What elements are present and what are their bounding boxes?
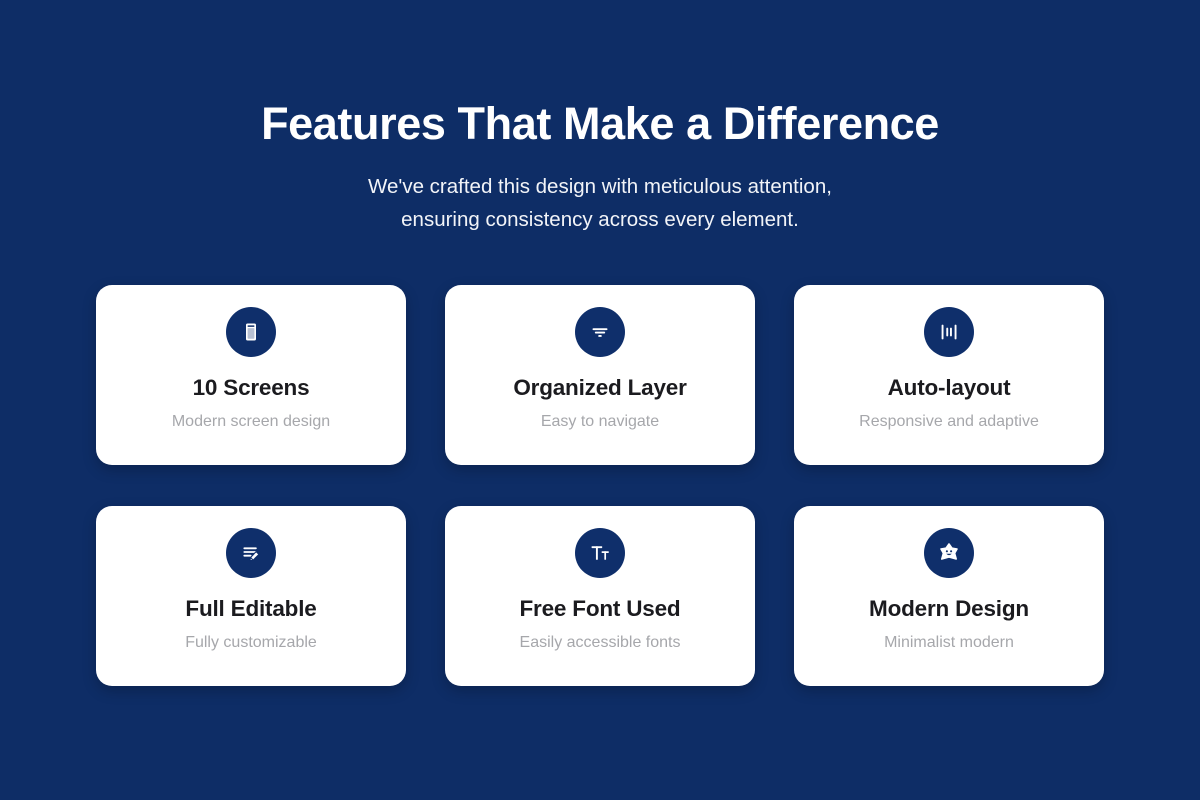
smiley-star-icon bbox=[924, 528, 974, 578]
card-description: Easy to navigate bbox=[541, 412, 659, 431]
feature-card-free-font-used[interactable]: Free Font Used Easily accessible fonts bbox=[445, 506, 755, 686]
feature-card-organized-layer[interactable]: Organized Layer Easy to navigate bbox=[445, 285, 755, 465]
features-section: Features That Make a Difference We've cr… bbox=[0, 0, 1200, 800]
page-title: Features That Make a Difference bbox=[0, 100, 1200, 147]
card-description: Minimalist modern bbox=[884, 633, 1014, 652]
edit-pencil-icon bbox=[226, 528, 276, 578]
page-subtitle: We've crafted this design with meticulou… bbox=[0, 170, 1200, 236]
feature-card-full-editable[interactable]: Full Editable Fully customizable bbox=[96, 506, 406, 686]
layers-filter-icon bbox=[575, 307, 625, 357]
page-subtitle-line-1: We've crafted this design with meticulou… bbox=[0, 170, 1200, 203]
card-title: Modern Design bbox=[869, 597, 1029, 622]
card-description: Fully customizable bbox=[185, 633, 317, 652]
card-description: Modern screen design bbox=[172, 412, 330, 431]
card-title: Full Editable bbox=[185, 597, 316, 622]
feature-card-auto-layout[interactable]: Auto-layout Responsive and adaptive bbox=[794, 285, 1104, 465]
mobile-phone-icon bbox=[226, 307, 276, 357]
feature-card-modern-design[interactable]: Modern Design Minimalist modern bbox=[794, 506, 1104, 686]
card-title: Free Font Used bbox=[520, 597, 681, 622]
card-title: Auto-layout bbox=[888, 376, 1011, 401]
feature-card-10-screens[interactable]: 10 Screens Modern screen design bbox=[96, 285, 406, 465]
auto-layout-bars-icon bbox=[924, 307, 974, 357]
card-description: Responsive and adaptive bbox=[859, 412, 1039, 431]
page-subtitle-line-2: ensuring consistency across every elemen… bbox=[0, 203, 1200, 236]
feature-card-grid: 10 Screens Modern screen design Organize… bbox=[96, 285, 1104, 686]
card-description: Easily accessible fonts bbox=[520, 633, 681, 652]
section-header: Features That Make a Difference We've cr… bbox=[0, 0, 1200, 237]
typography-tt-icon bbox=[575, 528, 625, 578]
card-title: 10 Screens bbox=[193, 376, 310, 401]
card-title: Organized Layer bbox=[513, 376, 686, 401]
